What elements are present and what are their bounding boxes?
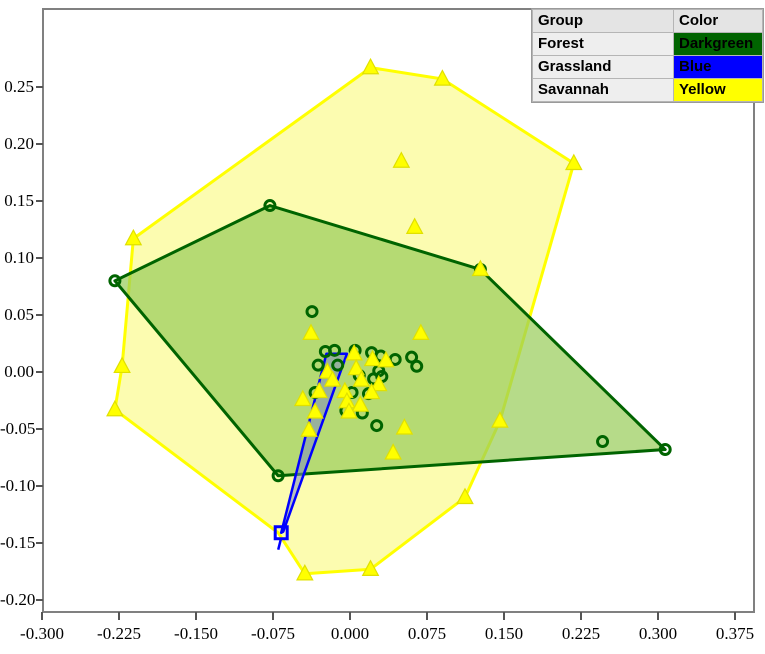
- legend-color-savannah: Yellow: [674, 79, 763, 102]
- legend-color-forest: Darkgreen: [674, 33, 763, 56]
- legend-group-grassland: Grassland: [533, 56, 674, 79]
- y-axis-tick-label: 0.15: [0, 191, 34, 211]
- x-axis-tick-label: 0.150: [485, 624, 523, 644]
- y-axis-tick-label: -0.20: [0, 590, 34, 610]
- y-axis-tick-label: -0.05: [0, 419, 34, 439]
- chart-figure: 0.250.200.150.100.050.00-0.05-0.10-0.15-…: [0, 0, 765, 654]
- x-axis-tick-label: 0.225: [562, 624, 600, 644]
- legend-row-grassland: Grassland Blue: [533, 56, 763, 79]
- x-axis-tick-label: -0.075: [251, 624, 295, 644]
- legend-table: Group Color Forest Darkgreen Grassland B…: [531, 8, 764, 103]
- x-axis-tick-label: 0.000: [331, 624, 369, 644]
- legend-header-color: Color: [674, 10, 763, 33]
- x-axis-tick-label: -0.150: [174, 624, 218, 644]
- x-axis-tick-label: 0.300: [639, 624, 677, 644]
- data-point-savannah: [363, 59, 379, 74]
- y-axis-tick-label: 0.20: [0, 134, 34, 154]
- y-axis-tick-label: 0.25: [0, 77, 34, 97]
- legend-group-forest: Forest: [533, 33, 674, 56]
- y-axis-tick-label: 0.10: [0, 248, 34, 268]
- legend-row-savannah: Savannah Yellow: [533, 79, 763, 102]
- y-axis-tick-label: -0.15: [0, 533, 34, 553]
- legend-row-forest: Forest Darkgreen: [533, 33, 763, 56]
- legend-header-row: Group Color: [533, 10, 763, 33]
- x-axis-tick-label: -0.300: [20, 624, 64, 644]
- x-axis-tick-label: -0.225: [97, 624, 141, 644]
- y-axis-tick-label: -0.10: [0, 476, 34, 496]
- x-axis-tick-label: 0.075: [408, 624, 446, 644]
- x-axis-tick-label: 0.375: [716, 624, 754, 644]
- y-axis-tick-label: 0.00: [0, 362, 34, 382]
- y-axis-tick-label: 0.05: [0, 305, 34, 325]
- legend-color-grassland: Blue: [674, 56, 763, 79]
- legend-header-group: Group: [533, 10, 674, 33]
- legend-group-savannah: Savannah: [533, 79, 674, 102]
